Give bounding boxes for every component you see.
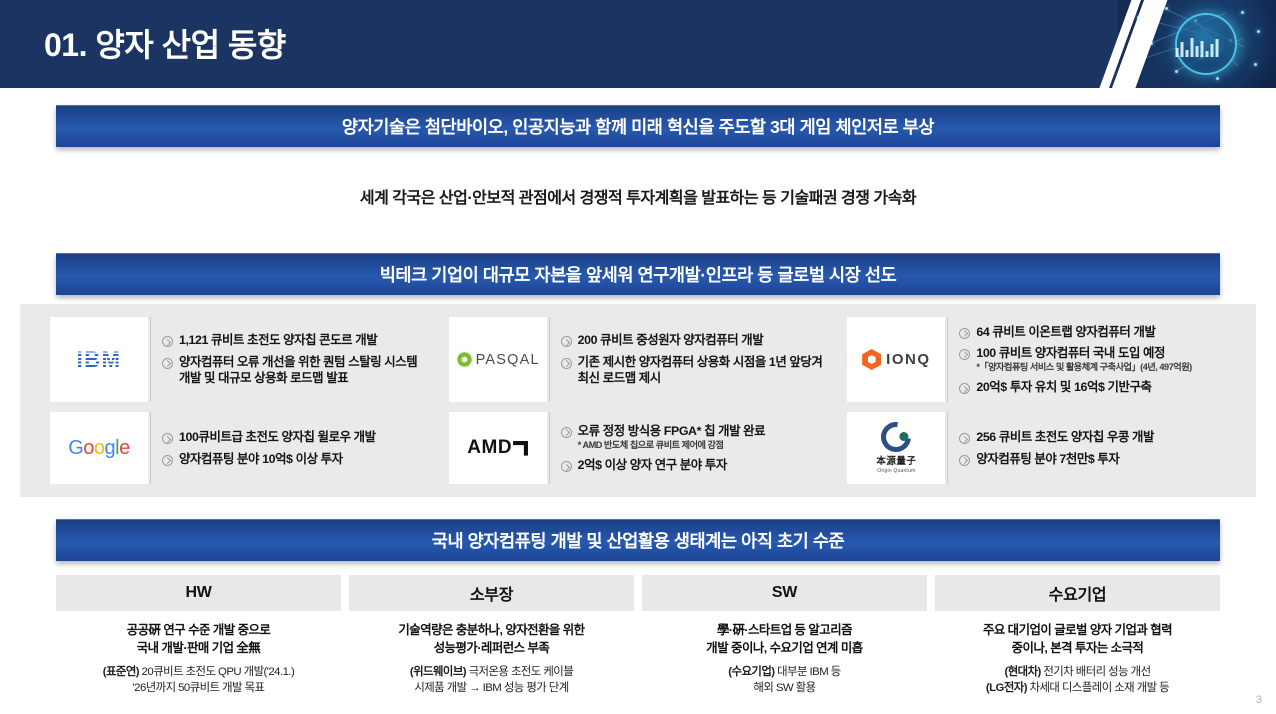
pasqal-bullet-list: 200 큐비트 중성원자 양자컴퓨터 개발 기존 제시한 양자컴퓨터 상용화 시… — [549, 317, 828, 402]
column-main-line: 개발 중이나, 수요기업 연계 미흡 — [642, 640, 927, 658]
column-sw: SW 學·硏·스타트업 등 알고리즘 개발 중이나, 수요기업 연계 미흡 (수… — [642, 575, 927, 697]
chevron-circle-icon — [162, 336, 173, 347]
section1-banner-text: 양자기술은 첨단바이오, 인공지능과 함께 미래 혁신을 주도할 3대 게임 체… — [342, 114, 934, 139]
bullet-text: 양자컴퓨팅 분야 7천만$ 투자 — [976, 451, 1226, 467]
bullet-text: 양자컴퓨팅 분야 10억$ 이상 투자 — [179, 451, 429, 467]
company-card-ibm[interactable]: IBM 1,121 큐비트 초전도 양자칩 콘도르 개발 양자컴퓨터 오류 개선… — [40, 317, 439, 402]
list-item: 양자컴퓨팅 분야 7천만$ 투자 — [959, 451, 1226, 467]
list-item: 100큐비트급 초전도 양자칩 윌로우 개발 — [162, 429, 429, 445]
ionq-logo-mark: IONQ — [862, 349, 930, 370]
column-main-line: 주요 대기업이 글로벌 양자 기업과 협력 — [935, 622, 1220, 640]
column-main-line: 기술역량은 충분하나, 양자전환을 위한 — [349, 622, 634, 640]
section3-banner: 국내 양자컴퓨팅 개발 및 산업활용 생태계는 아직 초기 수준 — [56, 519, 1220, 561]
bullet-footnote: *「양자컴퓨팅 서비스 및 활용체계 구축사업」(4년, 497억원) — [976, 362, 1226, 374]
bullet-text: 기존 제시한 양자컴퓨터 상용화 시점을 1년 앞당겨 최신 로드맵 제시 — [578, 354, 828, 387]
bullet-text: 64 큐비트 이온트랩 양자컴퓨터 개발 — [976, 324, 1226, 340]
list-item: 양자컴퓨팅 분야 10억$ 이상 투자 — [162, 451, 429, 467]
chevron-circle-icon — [162, 455, 173, 466]
column-header: SW — [642, 575, 927, 611]
arrow-icon — [513, 441, 528, 456]
ionq-logo: IONQ — [847, 317, 945, 402]
column-main-line: 공공硏 연구 수준 개발 중으로 — [56, 622, 341, 640]
bullet-text: 20억$ 투자 유치 및 16억$ 기반구축 — [976, 379, 1226, 395]
ionq-wordmark: IONQ — [886, 351, 930, 368]
list-item: 200 큐비트 중성원자 양자컴퓨터 개발 — [561, 332, 828, 348]
amd-logo: AMD — [449, 412, 547, 484]
company-card-amd[interactable]: AMD 오류 정정 방식용 FPGA* 칩 개발 완료 * AMD 반도체 칩으… — [439, 412, 838, 484]
column-sub-text: 20큐비트 초전도 QPU 개발('24.1.) — [139, 666, 294, 678]
column-header: 소부장 — [349, 575, 634, 611]
origin-wordmark-cn: 本源量子 — [876, 453, 916, 467]
column-sub-label: (수요기업) — [728, 666, 774, 678]
list-item: 기존 제시한 양자컴퓨터 상용화 시점을 1년 앞당겨 최신 로드맵 제시 — [561, 354, 828, 387]
slide-header: 01. 양자 산업 동향 — [0, 0, 1276, 88]
chevron-circle-icon — [959, 455, 970, 466]
column-main-line: 중이나, 본격 투자는 소극적 — [935, 640, 1220, 658]
column-sub-text: 시제품 개발 → IBM 성능 평가 단계 — [349, 680, 634, 696]
bullet-text: 2억$ 이상 양자 연구 분야 투자 — [578, 457, 828, 473]
pasqal-logo: PASQAL — [449, 317, 547, 402]
amd-bullet-list: 오류 정정 방식용 FPGA* 칩 개발 완료 * AMD 반도체 칩으로 큐비… — [549, 412, 828, 484]
column-main-line: 국내 개발·판매 기업 全無 — [56, 640, 341, 658]
pasqal-logo-mark: PASQAL — [456, 351, 540, 368]
hexagon-icon — [862, 349, 881, 370]
chevron-circle-icon — [561, 336, 572, 347]
company-card-pasqal[interactable]: PASQAL 200 큐비트 중성원자 양자컴퓨터 개발 기존 제시한 양자컴퓨… — [439, 317, 838, 402]
company-card-origin-quantum[interactable]: 本源量子 Origin Quantum 256 큐비트 초전도 양자칩 우콩 개… — [837, 412, 1236, 484]
section1-subhead: 세계 각국은 산업·안보적 관점에서 경쟁적 투자계획을 발표하는 등 기술패권… — [0, 184, 1276, 208]
google-logo-mark: Google — [68, 437, 130, 460]
page-title: 01. 양자 산업 동향 — [44, 20, 286, 66]
swirl-icon — [875, 416, 917, 458]
list-item: 2억$ 이상 양자 연구 분야 투자 — [561, 457, 828, 473]
column-sub-text: 극저온용 초전도 케이블 — [466, 666, 573, 678]
column-sub-text: 해외 SW 활용 — [642, 680, 927, 696]
bullet-text: 1,121 큐비트 초전도 양자칩 콘도르 개발 — [179, 332, 429, 348]
google-bullet-list: 100큐비트급 초전도 양자칩 윌로우 개발 양자컴퓨팅 분야 10억$ 이상 … — [150, 412, 429, 484]
column-sub-label: (위드웨이브) — [410, 666, 466, 678]
list-item: 오류 정정 방식용 FPGA* 칩 개발 완료 * AMD 반도체 칩으로 큐비… — [561, 423, 828, 452]
origin-wordmark-en: Origin Quantum — [877, 468, 915, 474]
column-main-line: 성능평가·레퍼런스 부족 — [349, 640, 634, 658]
bullet-text: 256 큐비트 초전도 양자칩 우콩 개발 — [976, 429, 1226, 445]
chevron-circle-icon — [959, 328, 970, 339]
list-item: 256 큐비트 초전도 양자칩 우콩 개발 — [959, 429, 1226, 445]
company-panel: IBM 1,121 큐비트 초전도 양자칩 콘도르 개발 양자컴퓨터 오류 개선… — [20, 304, 1256, 497]
column-sub-text: '26년까지 50큐비트 개발 목표 — [56, 680, 341, 696]
ionq-bullet-list: 64 큐비트 이온트랩 양자컴퓨터 개발 100 큐비트 양자컴퓨터 국내 도입… — [947, 317, 1226, 402]
chevron-circle-icon — [959, 383, 970, 394]
ecosystem-columns: HW 공공硏 연구 수준 개발 중으로 국내 개발·판매 기업 全無 (표준연)… — [56, 575, 1220, 697]
chevron-circle-icon — [561, 358, 572, 369]
column-header: 수요기업 — [935, 575, 1220, 611]
section2-banner-text: 빅테크 기업이 대규모 자본을 앞세워 연구개발·인프라 등 글로벌 시장 선도 — [380, 262, 897, 287]
page-number: 3 — [1256, 694, 1262, 706]
list-item: 64 큐비트 이온트랩 양자컴퓨터 개발 — [959, 324, 1226, 340]
chevron-circle-icon — [162, 433, 173, 444]
ibm-bullet-list: 1,121 큐비트 초전도 양자칩 콘도르 개발 양자컴퓨터 오류 개선을 위한… — [150, 317, 429, 402]
company-card-ionq[interactable]: IONQ 64 큐비트 이온트랩 양자컴퓨터 개발 100 큐비트 양자컴퓨터 … — [837, 317, 1236, 402]
column-demand-companies: 수요기업 주요 대기업이 글로벌 양자 기업과 협력 중이나, 본격 투자는 소… — [935, 575, 1220, 697]
bullet-text: 100 큐비트 양자컴퓨터 국내 도입 예정 — [976, 345, 1226, 361]
column-sobujang: 소부장 기술역량은 충분하나, 양자전환을 위한 성능평가·레퍼런스 부족 (위… — [349, 575, 634, 697]
column-sub-text: 대부분 IBM 등 — [775, 666, 841, 678]
column-hw: HW 공공硏 연구 수준 개발 중으로 국내 개발·판매 기업 全無 (표준연)… — [56, 575, 341, 697]
list-item: 100 큐비트 양자컴퓨터 국내 도입 예정 *「양자컴퓨팅 서비스 및 활용체… — [959, 345, 1226, 374]
section1-banner: 양자기술은 첨단바이오, 인공지능과 함께 미래 혁신을 주도할 3대 게임 체… — [56, 105, 1220, 147]
amd-wordmark: AMD — [467, 437, 512, 459]
amd-logo-mark: AMD — [467, 437, 528, 459]
origin-quantum-logo: 本源量子 Origin Quantum — [847, 412, 945, 484]
column-sub-text: 차세대 디스플레이 소재 개발 등 — [1027, 682, 1169, 694]
google-logo: Google — [50, 412, 148, 484]
section3-banner-text: 국내 양자컴퓨팅 개발 및 산업활용 생태계는 아직 초기 수준 — [432, 528, 845, 553]
origin-bullet-list: 256 큐비트 초전도 양자칩 우콩 개발 양자컴퓨팅 분야 7천만$ 투자 — [947, 412, 1226, 484]
column-sub-text: 전기차 배터리 성능 개선 — [1041, 666, 1151, 678]
chevron-circle-icon — [162, 358, 173, 369]
column-sub-label: (LG전자) — [986, 682, 1027, 694]
pasqal-wordmark: PASQAL — [476, 352, 540, 368]
ibm-logo-mark: IBM — [71, 347, 127, 373]
chevron-circle-icon — [959, 433, 970, 444]
bullet-footnote: * AMD 반도체 칩으로 큐비트 제어에 강점 — [578, 440, 828, 452]
column-main-line: 學·硏·스타트업 등 알고리즘 — [642, 622, 927, 640]
list-item: 양자컴퓨터 오류 개선을 위한 퀀텀 스탈링 시스템 개발 및 대규모 상용화 … — [162, 354, 429, 387]
company-card-google[interactable]: Google 100큐비트급 초전도 양자칩 윌로우 개발 양자컴퓨팅 분야 1… — [40, 412, 439, 484]
column-header: HW — [56, 575, 341, 611]
origin-quantum-logo-mark: 本源量子 Origin Quantum — [876, 422, 916, 474]
chevron-circle-icon — [561, 461, 572, 472]
list-item: 1,121 큐비트 초전도 양자칩 콘도르 개발 — [162, 332, 429, 348]
list-item: 20억$ 투자 유치 및 16억$ 기반구축 — [959, 379, 1226, 395]
ibm-logo: IBM — [50, 317, 148, 402]
bullet-text: 200 큐비트 중성원자 양자컴퓨터 개발 — [578, 332, 828, 348]
bullet-text: 오류 정정 방식용 FPGA* 칩 개발 완료 — [578, 423, 828, 439]
chevron-circle-icon — [959, 349, 970, 360]
bar-chart-icon — [1176, 35, 1219, 57]
company-grid: IBM 1,121 큐비트 초전도 양자칩 콘도르 개발 양자컴퓨터 오류 개선… — [40, 317, 1236, 484]
column-sub-label: (표준연) — [103, 666, 139, 678]
column-sub-label: (현대차) — [1004, 666, 1040, 678]
bullet-text: 100큐비트급 초전도 양자칩 윌로우 개발 — [179, 429, 429, 445]
bullet-text: 양자컴퓨터 오류 개선을 위한 퀀텀 스탈링 시스템 개발 및 대규모 상용화 … — [179, 354, 429, 387]
section2-banner: 빅테크 기업이 대규모 자본을 앞세워 연구개발·인프라 등 글로벌 시장 선도 — [56, 253, 1220, 295]
chevron-circle-icon — [561, 427, 572, 438]
